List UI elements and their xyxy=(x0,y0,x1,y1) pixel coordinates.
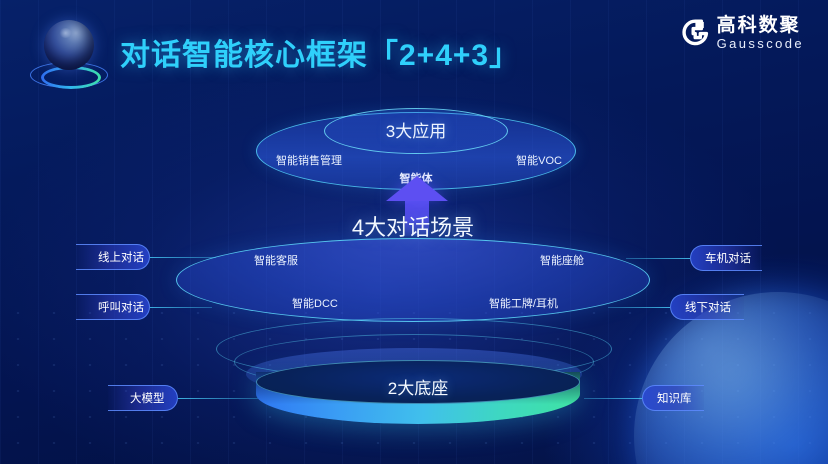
brand-text: 高科数聚 Gausscode xyxy=(717,16,804,50)
connector-line-left-online xyxy=(150,257,216,258)
label-call-dialogue[interactable]: 呼叫对话 xyxy=(76,294,150,320)
gausscode-logo-icon xyxy=(682,19,710,47)
scenarios-layer: 4大对话场景 智能客服 智能座舱 智能DCC 智能工牌/耳机 xyxy=(176,238,650,326)
applications-title: 3大应用 xyxy=(256,117,576,142)
page-title: 对话智能核心框架「2+4+3」 xyxy=(120,30,520,74)
application-item-sales: 智能销售管理 xyxy=(276,152,342,168)
orb-ball-icon xyxy=(44,20,94,70)
connector-line-left-call xyxy=(150,307,212,308)
brand-name-en: Gausscode xyxy=(717,37,804,50)
connector-line-left-model xyxy=(178,398,258,399)
connector-line-right-offline xyxy=(608,307,670,308)
slide-canvas: 对话智能核心框架「2+4+3」 高科数聚 Gausscode 3大应用 智能销售… xyxy=(0,0,828,464)
scenario-item-dcc: 智能DCC xyxy=(292,295,338,311)
scenario-item-smart-cabin: 智能座舱 xyxy=(540,252,584,268)
brand-logo: 高科数聚 Gausscode xyxy=(682,16,804,50)
scenario-item-customer-service: 智能客服 xyxy=(254,252,298,268)
arrow-up-head xyxy=(386,176,448,201)
brand-name-cn: 高科数聚 xyxy=(717,16,804,35)
scenarios-title: 4大对话场景 xyxy=(176,210,650,242)
label-vehicle-dialogue[interactable]: 车机对话 xyxy=(690,245,762,271)
scenario-item-badge-headset: 智能工牌/耳机 xyxy=(489,295,558,311)
label-online-dialogue[interactable]: 线上对话 xyxy=(76,244,150,270)
label-large-model[interactable]: 大模型 xyxy=(108,385,178,411)
connector-line-right-kb xyxy=(584,398,642,399)
slide-header: 对话智能核心框架「2+4+3」 高科数聚 Gausscode xyxy=(0,0,828,108)
sphere-orb-icon xyxy=(30,18,106,94)
foundation-layer: 2大底座 xyxy=(256,360,580,434)
connector-line-right-vehicle xyxy=(626,258,690,259)
label-offline-dialogue[interactable]: 线下对话 xyxy=(670,294,744,320)
application-item-voc: 智能VOC xyxy=(516,152,562,168)
label-knowledge-base[interactable]: 知识库 xyxy=(642,385,704,411)
foundation-title: 2大底座 xyxy=(256,374,580,399)
scenarios-ellipse xyxy=(176,238,650,322)
